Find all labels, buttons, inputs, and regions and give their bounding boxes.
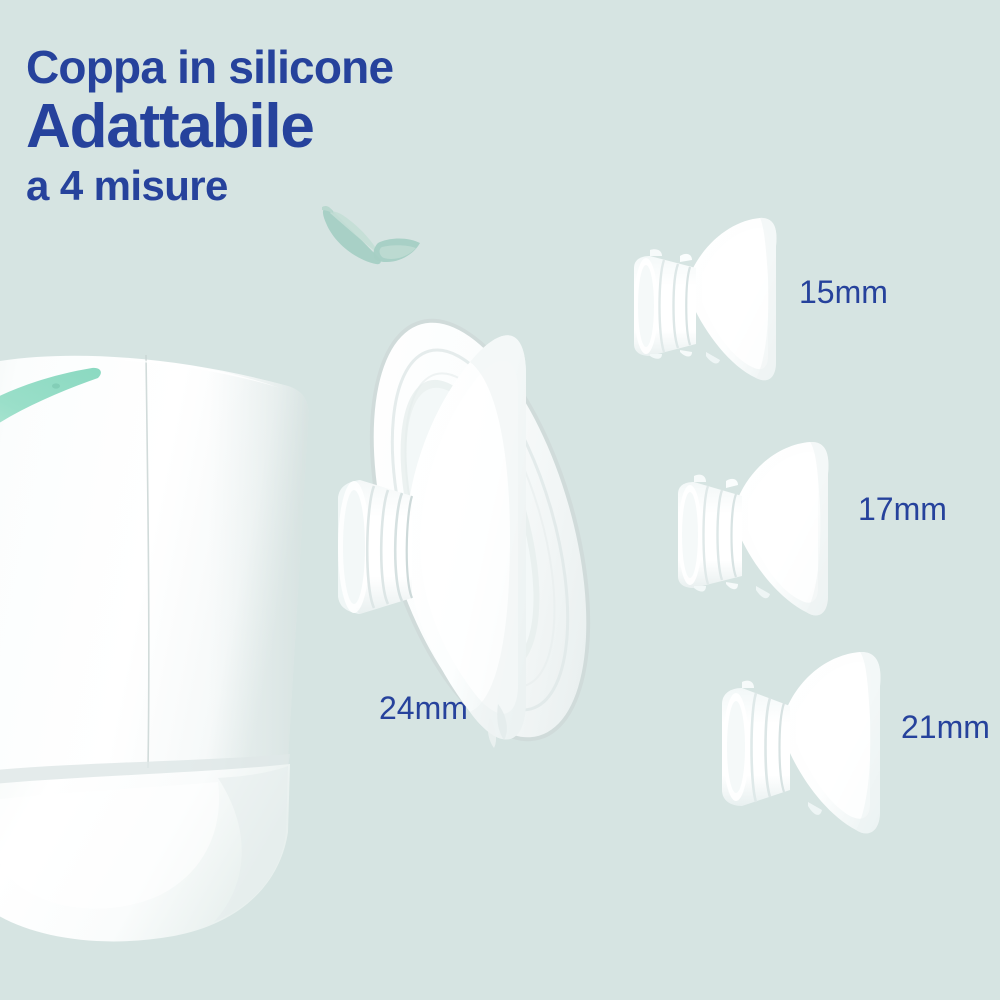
size-label-17mm: 17mm bbox=[858, 491, 947, 528]
size-label-15mm: 15mm bbox=[799, 274, 888, 311]
headline-line-2: Adattabile bbox=[26, 94, 586, 160]
size-label-21mm: 21mm bbox=[901, 709, 990, 746]
silicone-insert-icon bbox=[660, 436, 860, 636]
feather-icon bbox=[316, 203, 428, 269]
headline-block: Coppa in silicone Adattabile a 4 misure bbox=[26, 44, 586, 208]
breast-pump-body-icon bbox=[0, 330, 338, 950]
headline-line-3: a 4 misure bbox=[26, 164, 586, 209]
silicone-insert-icon bbox=[706, 646, 911, 851]
silicone-insert-icon bbox=[618, 212, 808, 402]
headline-line-1: Coppa in silicone bbox=[26, 44, 586, 92]
silicone-flange-icon bbox=[320, 300, 620, 780]
product-feature-image: Coppa in silicone Adattabile a 4 misure … bbox=[0, 0, 1000, 1000]
